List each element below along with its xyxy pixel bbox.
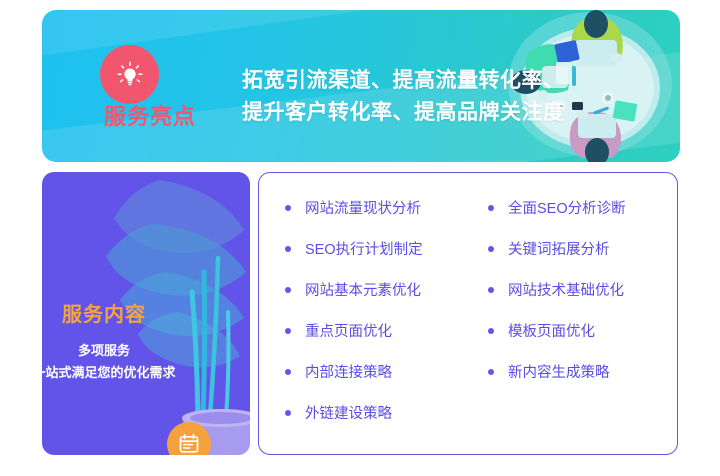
feature-item: 网站流量现状分析: [285, 187, 474, 228]
feature-item-label: 新内容生成策略: [508, 361, 610, 382]
feature-item-label: 重点页面优化: [305, 320, 392, 341]
features-column-right: 全面SEO分析诊断关键词拓展分析网站技术基础优化模板页面优化新内容生成策略: [474, 187, 677, 454]
service-subtitle-line-2: 一站式满足您的优化需求: [0, 362, 208, 384]
feature-item-label: 网站流量现状分析: [305, 197, 421, 218]
document-calendar-icon: [178, 433, 200, 455]
feature-item-label: 全面SEO分析诊断: [508, 197, 626, 218]
feature-item-label: 网站技术基础优化: [508, 279, 624, 300]
feature-item-label: 模板页面优化: [508, 320, 595, 341]
bullet-icon: [285, 287, 291, 293]
bullet-icon: [285, 205, 291, 211]
bullet-icon: [488, 246, 494, 252]
headline-line-1: 拓宽引流渠道、提高流量转化率、: [242, 65, 565, 97]
service-subtitle-line-1: 多项服务: [0, 340, 208, 362]
feature-item: 重点页面优化: [285, 310, 474, 351]
lightbulb-icon: [115, 60, 145, 90]
features-column-left: 网站流量现状分析SEO执行计划制定网站基本元素优化重点页面优化内部连接策略外链建…: [259, 187, 474, 454]
features-panel: 网站流量现状分析SEO执行计划制定网站基本元素优化重点页面优化内部连接策略外链建…: [258, 172, 678, 455]
bullet-icon: [285, 410, 291, 416]
bullet-icon: [488, 369, 494, 375]
service-highlight-label: 服务亮点: [90, 106, 210, 128]
header-banner: 服务亮点 拓宽引流渠道、提高流量转化率、 提升客户转化率、提高品牌关注度: [42, 10, 680, 162]
feature-item: 网站基本元素优化: [285, 269, 474, 310]
service-content-title: 服务内容: [0, 298, 208, 327]
feature-item-label: 关键词拓展分析: [508, 238, 610, 259]
feature-item: SEO执行计划制定: [285, 228, 474, 269]
bullet-icon: [285, 328, 291, 334]
lightbulb-badge: [100, 45, 159, 104]
bullet-icon: [488, 328, 494, 334]
service-content-subtitle: 多项服务 一站式满足您的优化需求: [0, 340, 208, 384]
feature-item: 关键词拓展分析: [488, 228, 677, 269]
feature-item-label: 网站基本元素优化: [305, 279, 421, 300]
feature-item: 全面SEO分析诊断: [488, 187, 677, 228]
feature-item: 内部连接策略: [285, 351, 474, 392]
feature-item: 新内容生成策略: [488, 351, 677, 392]
feature-item-label: SEO执行计划制定: [305, 238, 423, 259]
feature-item-label: 内部连接策略: [305, 361, 392, 382]
feature-item: 外链建设策略: [285, 392, 474, 433]
bullet-icon: [488, 205, 494, 211]
feature-item: 网站技术基础优化: [488, 269, 677, 310]
bullet-icon: [285, 246, 291, 252]
header-headline: 拓宽引流渠道、提高流量转化率、 提升客户转化率、提高品牌关注度: [242, 65, 565, 129]
headline-line-2: 提升客户转化率、提高品牌关注度: [242, 97, 565, 129]
bullet-icon: [488, 287, 494, 293]
feature-item: 模板页面优化: [488, 310, 677, 351]
feature-item-label: 外链建设策略: [305, 402, 392, 423]
bullet-icon: [285, 369, 291, 375]
